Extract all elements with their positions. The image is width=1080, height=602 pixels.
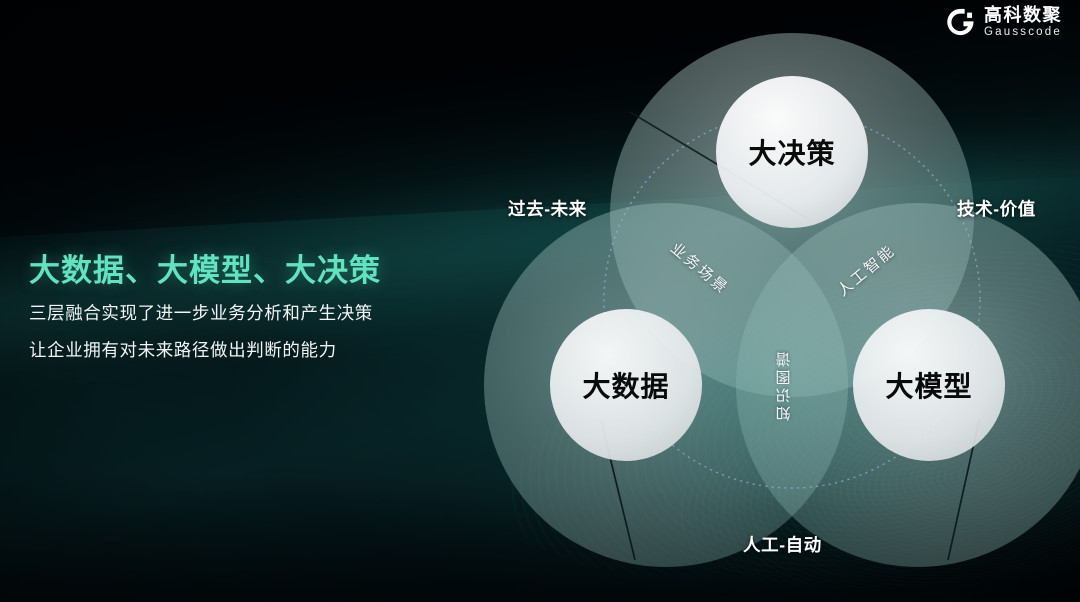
subtitle-line-1: 三层融合实现了进一步业务分析和产生决策 (29, 305, 469, 323)
subtitle-line-2: 让企业拥有对未来路径做出判断的能力 (29, 342, 469, 360)
venn-outer-label-left: 过去-未来 (508, 196, 587, 221)
brand-logo-text: 高科数聚 Gausscode (984, 6, 1062, 39)
brand-name-en: Gausscode (984, 27, 1062, 39)
gausscode-logo-icon (945, 7, 975, 37)
brand-name-cn: 高科数聚 (984, 6, 1062, 24)
slide-canvas: 高科数聚 Gausscode 大数据、大模型、大决策 三层融合实现了进一步业务分… (0, 0, 1080, 602)
page-title: 大数据、大模型、大决策 (29, 252, 469, 291)
venn-core-label-top: 大决策 (748, 132, 835, 172)
venn-diagram (480, 0, 1080, 602)
venn-outer-label-bottom: 人工-自动 (743, 532, 822, 557)
copy-block: 大数据、大模型、大决策 三层融合实现了进一步业务分析和产生决策 让企业拥有对未来… (29, 252, 469, 360)
venn-core-label-bottom-right: 大模型 (885, 365, 972, 405)
brand-logo: 高科数聚 Gausscode (945, 6, 1062, 39)
venn-outer-label-right: 技术-价值 (957, 196, 1036, 221)
venn-intersection-label-knowledge-graph: 知识图谱 (774, 349, 795, 421)
venn-diagram-graphic (480, 0, 1080, 602)
venn-core-label-bottom-left: 大数据 (582, 365, 669, 405)
